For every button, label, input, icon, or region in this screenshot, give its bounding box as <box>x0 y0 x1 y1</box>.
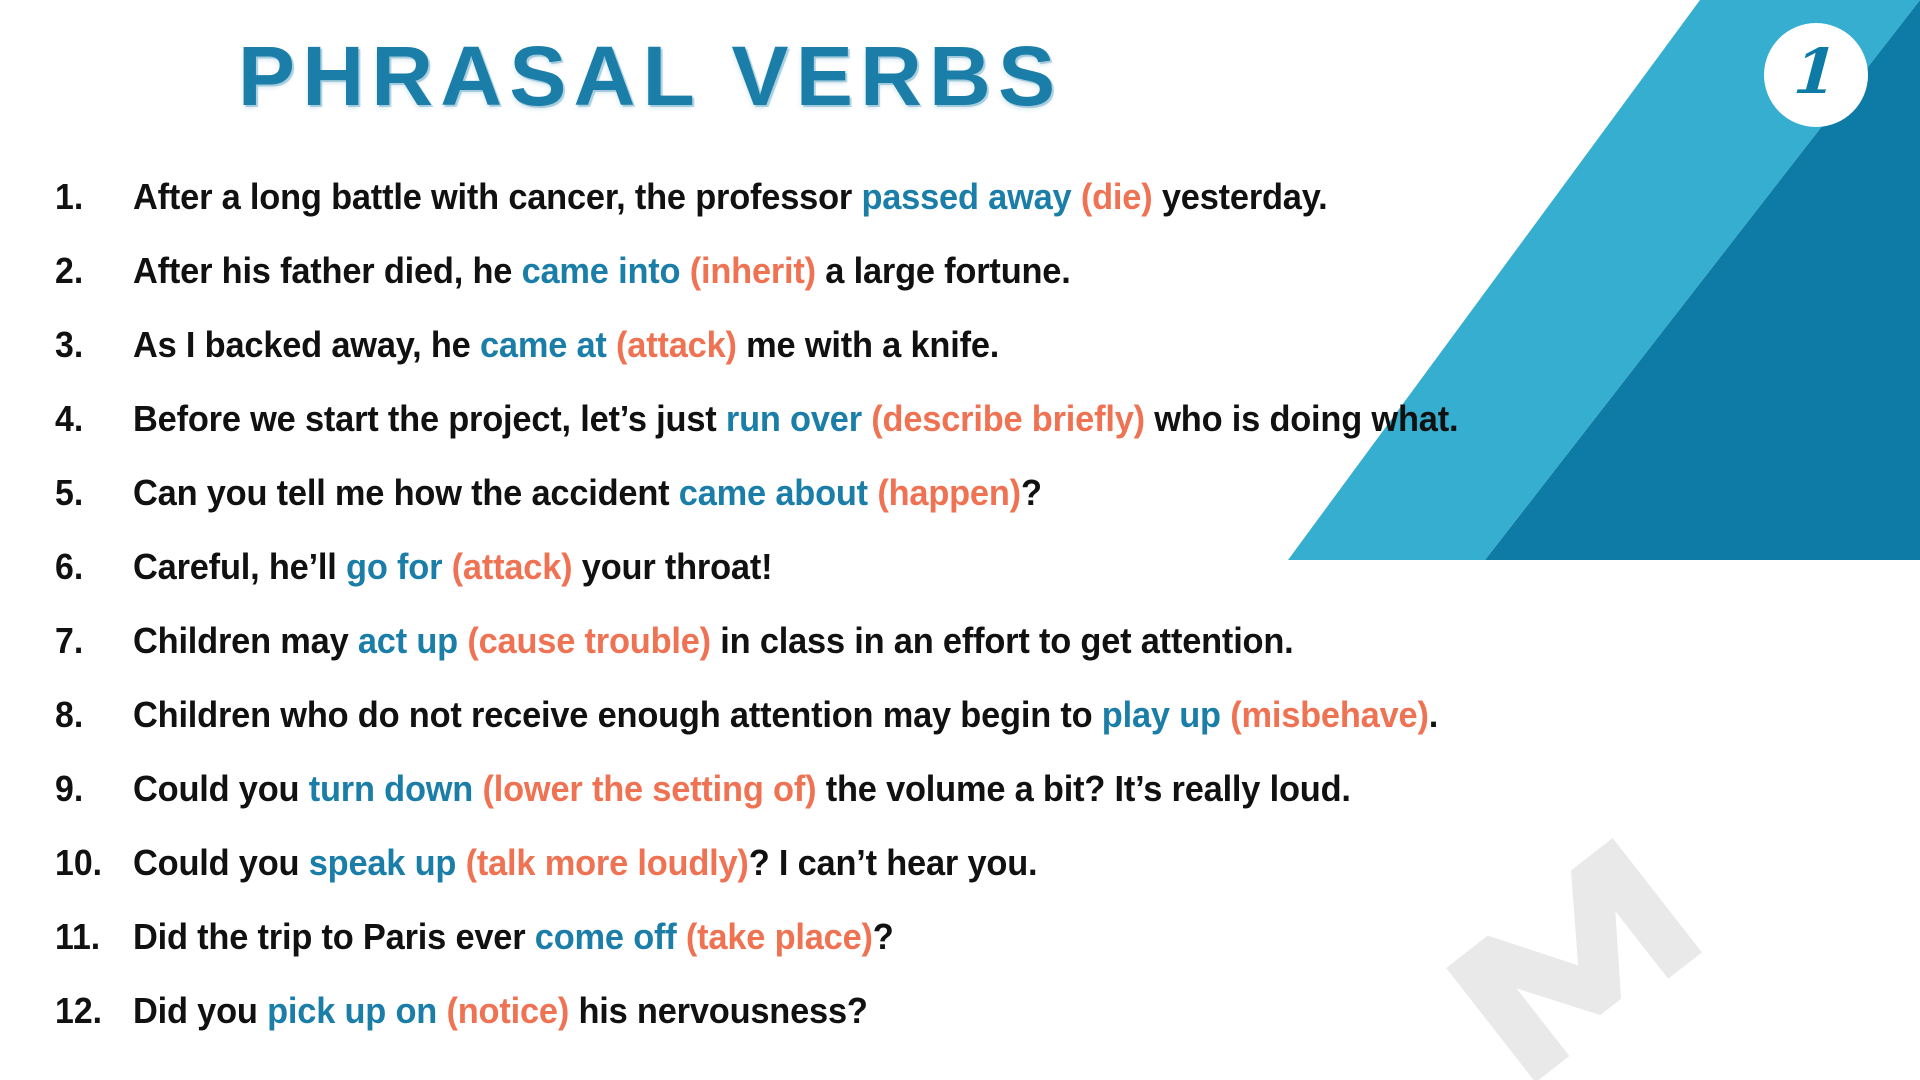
list-item-number: 1. <box>55 176 128 218</box>
sentence-before: As I backed away, he <box>133 324 480 365</box>
list-item: 6.Careful, he’ll go for (attack) your th… <box>0 546 1920 620</box>
list-item: 5.Can you tell me how the accident came … <box>0 472 1920 546</box>
phrasal-verb-list: 1.After a long battle with cancer, the p… <box>0 176 1920 1064</box>
phrasal-verb-text: act up <box>358 620 458 661</box>
phrasal-verb-text: play up <box>1102 694 1221 735</box>
sentence-before: Children who do not receive enough atten… <box>133 694 1102 735</box>
list-item-sentence: Children may act up (cause trouble) in c… <box>133 620 1840 662</box>
list-item: 10.Could you speak up (talk more loudly)… <box>0 842 1920 916</box>
list-item-number: 8. <box>55 694 128 736</box>
list-item-sentence: Did the trip to Paris ever come off (tak… <box>133 916 1840 958</box>
list-item-sentence: After a long battle with cancer, the pro… <box>133 176 1840 218</box>
page-number-badge: 1 <box>1764 23 1868 127</box>
phrasal-verb-meaning: (attack) <box>616 324 737 365</box>
list-item-number: 3. <box>55 324 128 366</box>
list-item: 2.After his father died, he came into (i… <box>0 250 1920 324</box>
sentence-before: Could you <box>133 768 309 809</box>
list-item: 8.Children who do not receive enough att… <box>0 694 1920 768</box>
list-item: 1.After a long battle with cancer, the p… <box>0 176 1920 250</box>
list-item-sentence: Careful, he’ll go for (attack) your thro… <box>133 546 1840 588</box>
sentence-before: Careful, he’ll <box>133 546 346 587</box>
list-item: 12.Did you pick up on (notice) his nervo… <box>0 990 1920 1064</box>
sentence-after: yesterday. <box>1152 176 1327 217</box>
list-item-number: 2. <box>55 250 128 292</box>
phrasal-verb-text: came into <box>522 250 681 291</box>
phrasal-verb-meaning: (take place) <box>686 916 873 957</box>
phrasal-verb-meaning: (inherit) <box>690 250 816 291</box>
page-number-label: 1 <box>1792 41 1839 103</box>
page-edge-bottom <box>0 1076 1920 1080</box>
page-title-label: PHRASAL VERBS <box>238 28 1062 125</box>
list-item-number: 5. <box>55 472 128 514</box>
list-item-sentence: Before we start the project, let’s just … <box>133 398 1840 440</box>
sentence-before: After his father died, he <box>133 250 522 291</box>
poster-page: 1 PHRASAL VERBS 1.After a long battle wi… <box>0 0 1920 1080</box>
list-item-sentence: Children who do not receive enough atten… <box>133 694 1840 736</box>
list-item-sentence: Could you speak up (talk more loudly)? I… <box>133 842 1840 884</box>
phrasal-verb-meaning: (die) <box>1081 176 1153 217</box>
sentence-before: Could you <box>133 842 309 883</box>
sentence-after: ? I can’t hear you. <box>749 842 1038 883</box>
phrasal-verb-text: run over <box>726 398 862 439</box>
phrasal-verb-meaning: (lower the setting of) <box>482 768 816 809</box>
phrasal-verb-meaning: (describe briefly) <box>871 398 1145 439</box>
sentence-after: me with a knife. <box>737 324 999 365</box>
list-item-number: 11. <box>55 916 128 958</box>
sentence-before: Did you <box>133 990 267 1031</box>
list-item-sentence: After his father died, he came into (inh… <box>133 250 1840 292</box>
sentence-before: Before we start the project, let’s just <box>133 398 726 439</box>
phrasal-verb-text: speak up <box>309 842 457 883</box>
sentence-before: Children may <box>133 620 358 661</box>
list-item-number: 9. <box>55 768 128 810</box>
phrasal-verb-text: came about <box>679 472 868 513</box>
list-item-number: 6. <box>55 546 128 588</box>
sentence-after: the volume a bit? It’s really loud. <box>816 768 1350 809</box>
list-item-number: 4. <box>55 398 128 440</box>
phrasal-verb-text: turn down <box>309 768 473 809</box>
phrasal-verb-meaning: (notice) <box>446 990 569 1031</box>
sentence-after: a large fortune. <box>816 250 1071 291</box>
phrasal-verb-meaning: (misbehave) <box>1230 694 1429 735</box>
phrasal-verb-meaning: (cause trouble) <box>467 620 711 661</box>
list-item-number: 7. <box>55 620 128 662</box>
sentence-before: Did the trip to Paris ever <box>133 916 535 957</box>
phrasal-verb-text: come off <box>535 916 677 957</box>
phrasal-verb-meaning: (happen) <box>877 472 1021 513</box>
list-item-number: 10. <box>55 842 128 884</box>
list-item-sentence: Could you turn down (lower the setting o… <box>133 768 1840 810</box>
sentence-before: Can you tell me how the accident <box>133 472 679 513</box>
phrasal-verb-text: pick up on <box>267 990 437 1031</box>
sentence-after: your throat! <box>572 546 772 587</box>
list-item-sentence: Did you pick up on (notice) his nervousn… <box>133 990 1840 1032</box>
list-item: 7.Children may act up (cause trouble) in… <box>0 620 1920 694</box>
sentence-after: ? <box>873 916 894 957</box>
list-item-sentence: As I backed away, he came at (attack) me… <box>133 324 1840 366</box>
sentence-after: ? <box>1021 472 1042 513</box>
list-item: 3.As I backed away, he came at (attack) … <box>0 324 1920 398</box>
sentence-after: in class in an effort to get attention. <box>711 620 1294 661</box>
list-item-sentence: Can you tell me how the accident came ab… <box>133 472 1840 514</box>
page-edge-top <box>0 0 1920 6</box>
sentence-before: After a long battle with cancer, the pro… <box>133 176 861 217</box>
sentence-after: his nervousness? <box>569 990 868 1031</box>
phrasal-verb-text: came at <box>480 324 607 365</box>
sentence-after: . <box>1429 694 1438 735</box>
phrasal-verb-text: passed away <box>861 176 1071 217</box>
list-item-number: 12. <box>55 990 128 1032</box>
phrasal-verb-meaning: (talk more loudly) <box>466 842 749 883</box>
list-item: 11.Did the trip to Paris ever come off (… <box>0 916 1920 990</box>
sentence-after: who is doing what. <box>1145 398 1458 439</box>
list-item: 9.Could you turn down (lower the setting… <box>0 768 1920 842</box>
list-item: 4.Before we start the project, let’s jus… <box>0 398 1920 472</box>
phrasal-verb-meaning: (attack) <box>452 546 573 587</box>
page-title: PHRASAL VERBS <box>0 28 1300 125</box>
phrasal-verb-text: go for <box>346 546 442 587</box>
